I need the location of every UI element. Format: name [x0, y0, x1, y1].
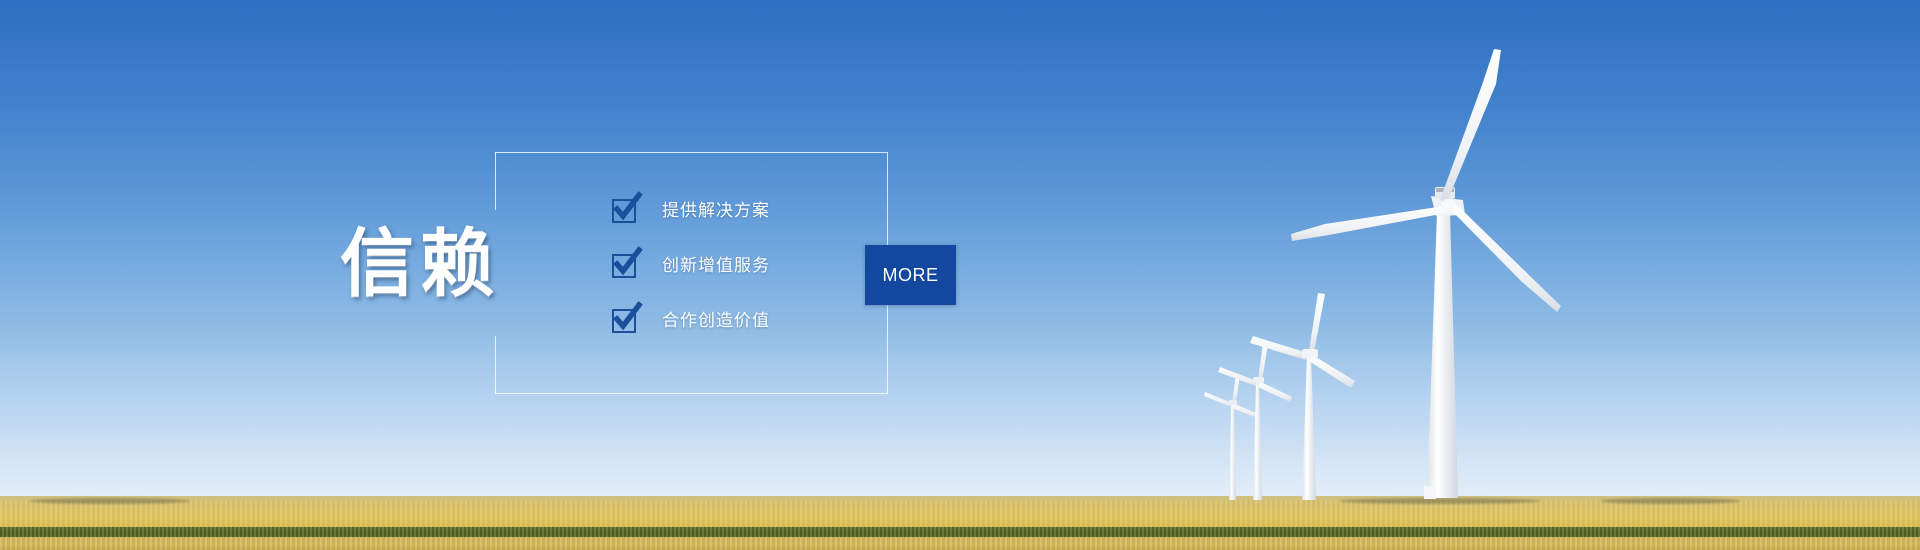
frame-top-edge: [495, 152, 888, 153]
frame-left-edge-bottom: [495, 336, 496, 394]
frame-left-edge-top: [495, 152, 496, 210]
turbine-main: [1291, 49, 1561, 499]
hero-banner: 信赖 提供解决方案 创新增值服务 合: [0, 0, 1920, 550]
page-title: 信赖: [340, 225, 570, 303]
list-item-label: 合作创造价值: [662, 309, 770, 333]
turbine-far: [1204, 374, 1258, 500]
check-mark-icon: [612, 249, 642, 279]
check-mark-icon: [612, 194, 642, 224]
list-item-label: 创新增值服务: [662, 254, 770, 278]
checkbox-checked-icon: [612, 309, 636, 333]
checkbox-checked-icon: [612, 199, 636, 223]
turbine-mid: [1250, 293, 1355, 500]
list-item: 提供解决方案: [612, 196, 770, 226]
feature-checklist: 提供解决方案 创新增值服务 合作创造价值: [612, 196, 770, 336]
checkbox-checked-icon: [612, 254, 636, 278]
check-mark-icon: [612, 304, 642, 334]
more-button[interactable]: MORE: [865, 245, 956, 305]
turbine-small: [1218, 343, 1292, 500]
wind-turbines-group: [0, 0, 1920, 550]
frame-bottom-edge: [495, 393, 888, 394]
list-item: 创新增值服务: [612, 251, 770, 281]
list-item: 合作创造价值: [612, 306, 770, 336]
list-item-label: 提供解决方案: [662, 199, 770, 223]
